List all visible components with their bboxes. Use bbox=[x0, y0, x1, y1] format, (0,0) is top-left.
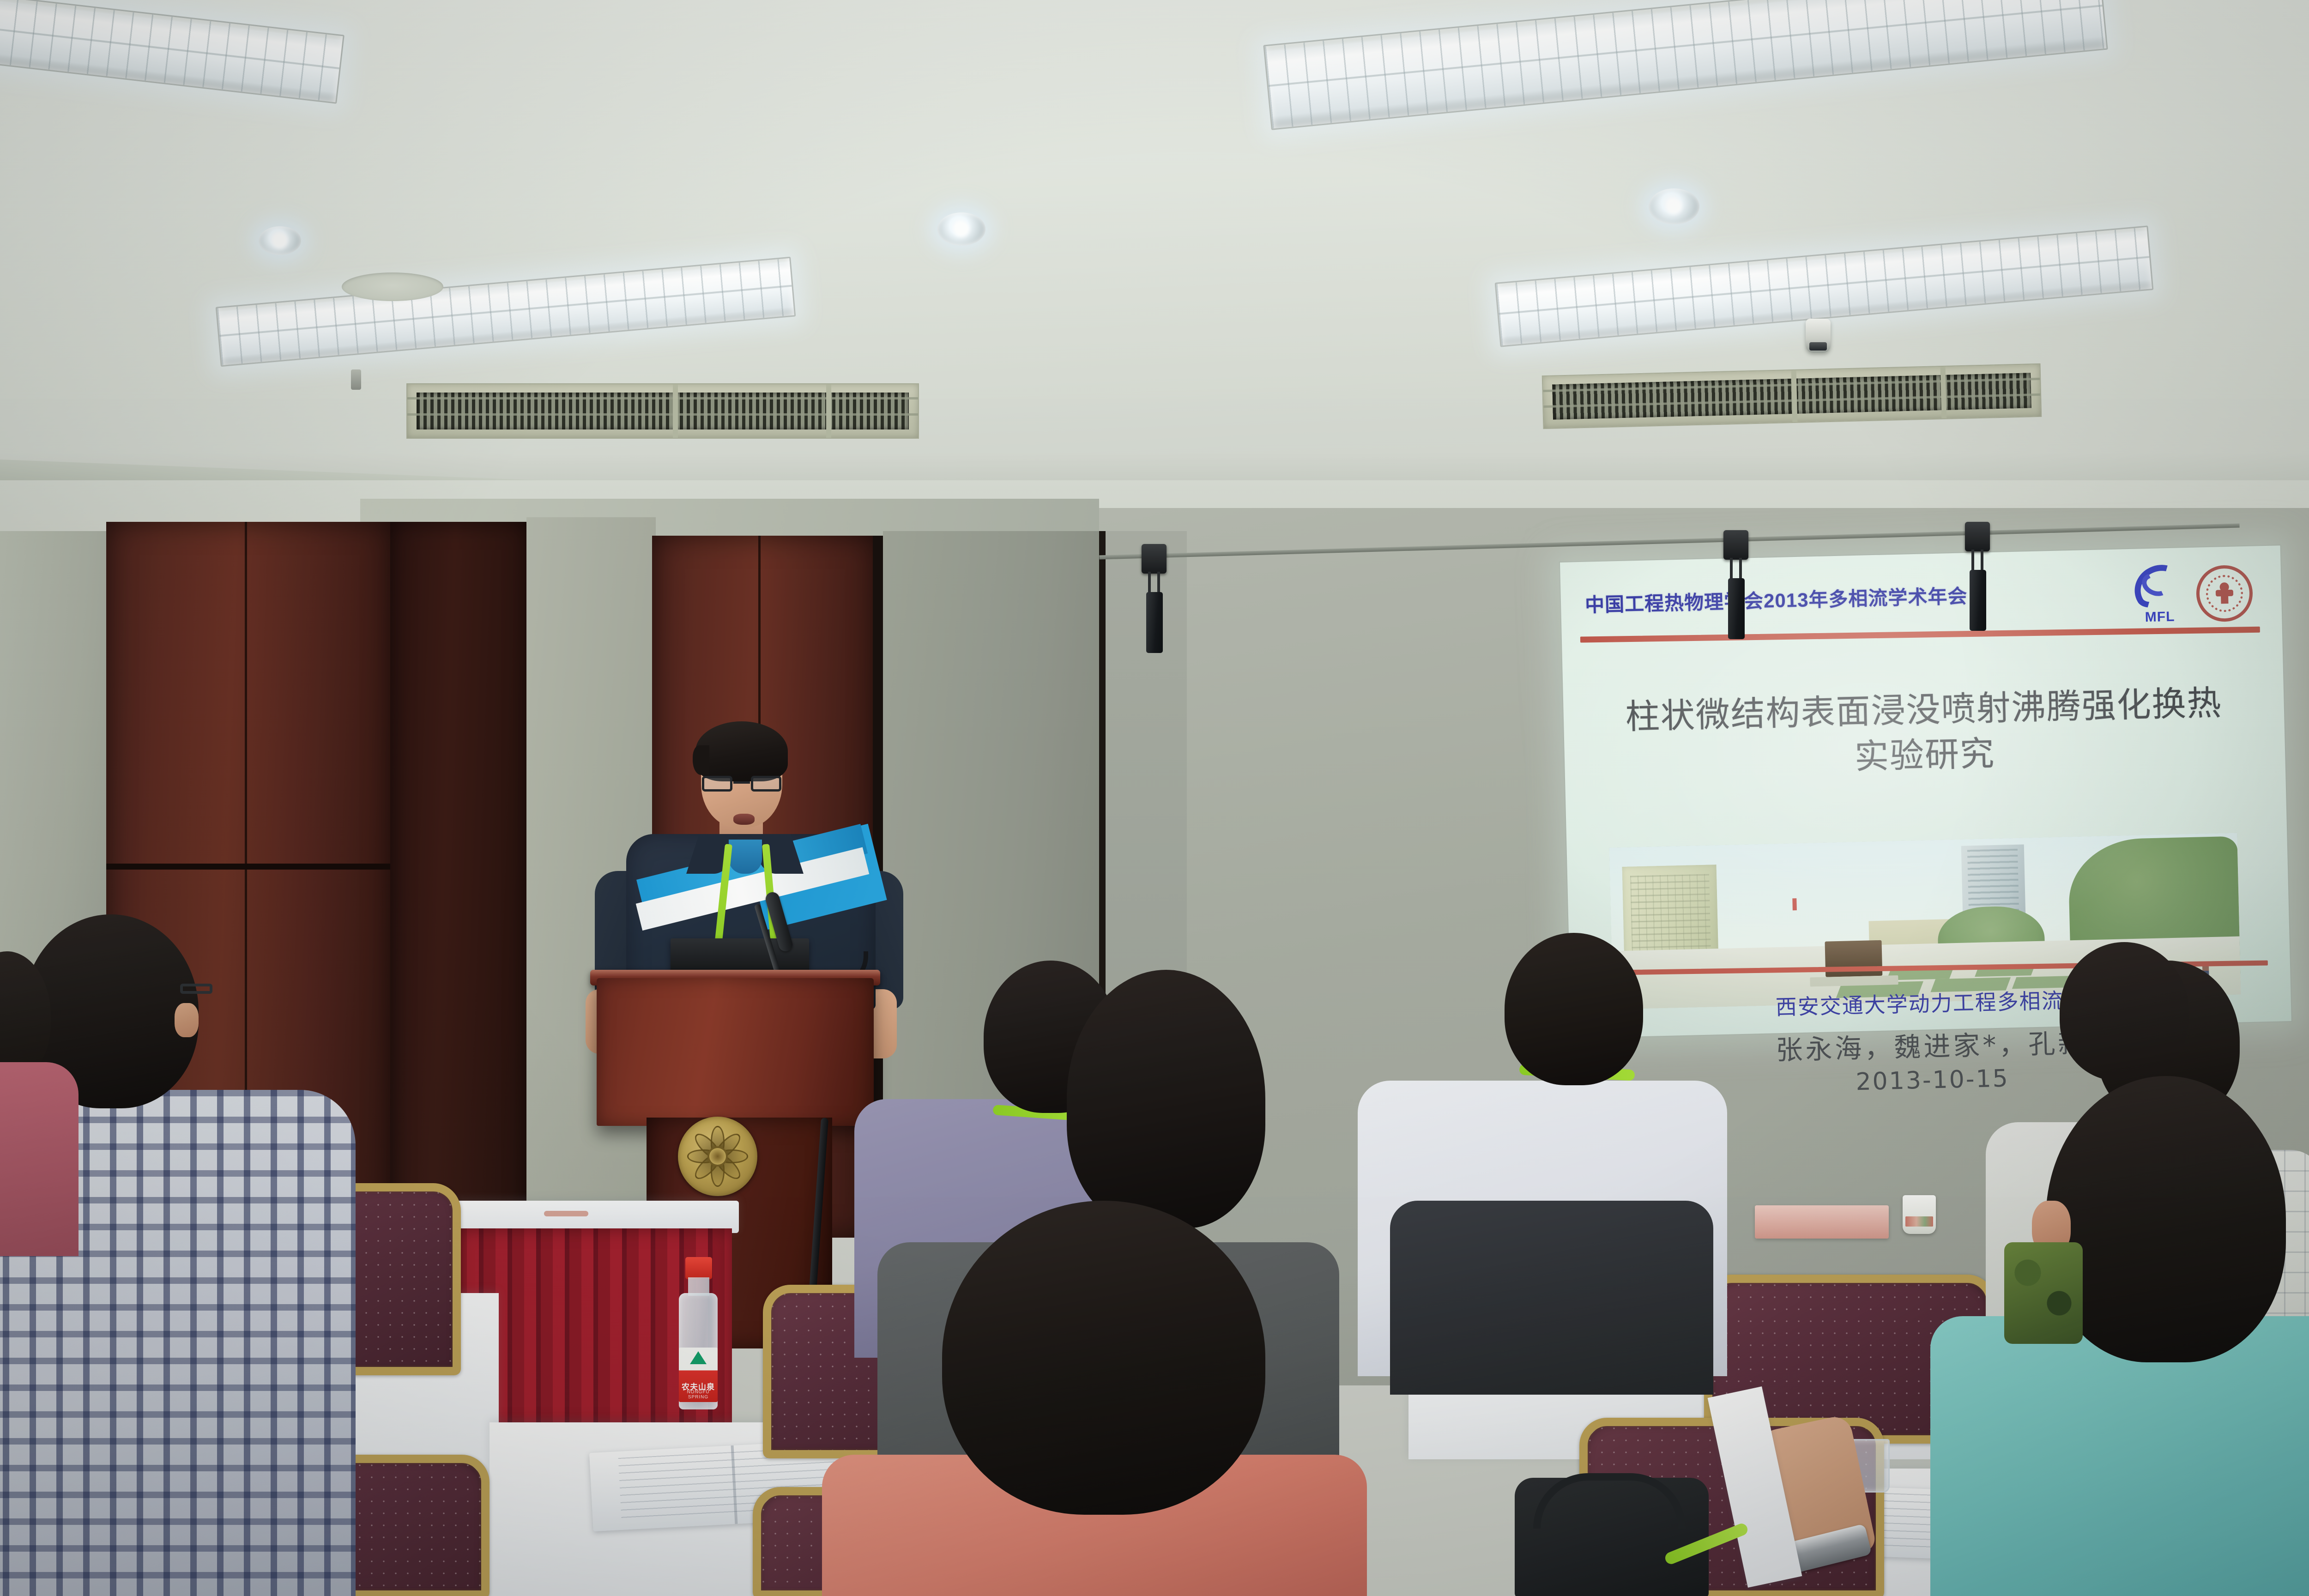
podium-rosette-icon bbox=[678, 1117, 757, 1196]
attendee-white-shirt-head bbox=[1505, 933, 1643, 1085]
ceiling-downlight-2 bbox=[937, 212, 985, 246]
ceiling-downlight-3 bbox=[1649, 188, 1699, 224]
conference-photo-scene: 中国工程热物理学会2013年多相流学术年会 MFL 柱状微结构表面浸没喷射沸腾强… bbox=[0, 0, 2309, 1596]
water-bottle[interactable]: 农夫山泉 NONGFU SPRING bbox=[678, 1257, 719, 1409]
attendee-coral-shirt-head bbox=[942, 1201, 1265, 1515]
mfl-swirl-logo-icon: MFL bbox=[2129, 565, 2190, 625]
paper-cup[interactable] bbox=[1903, 1195, 1936, 1234]
university-seal-logo-icon bbox=[2196, 565, 2254, 623]
attendee-teal-shirt-body bbox=[1930, 1316, 2309, 1596]
water-bottle-label: 农夫山泉 NONGFU SPRING bbox=[679, 1348, 718, 1402]
water-bottle-brand-en: NONGFU SPRING bbox=[679, 1390, 718, 1400]
presenter-collar-inner bbox=[729, 840, 762, 874]
attendee-gray-jacket-head bbox=[1067, 970, 1265, 1228]
name-card-red bbox=[1755, 1205, 1889, 1239]
presenter-mouth bbox=[733, 814, 755, 825]
ceiling-downlight-1 bbox=[259, 226, 301, 255]
ceiling-sprinkler-icon bbox=[351, 369, 361, 390]
hvac-vent-right-grille bbox=[1552, 373, 2031, 419]
attendee-plaid-shirt-glasses-icon bbox=[180, 984, 212, 994]
ceiling-motion-sensor-icon bbox=[1806, 319, 1831, 353]
attendee-light-jacket-head bbox=[2060, 942, 2189, 1081]
attendee-white-shirt-jacket-on-chair bbox=[1390, 1201, 1713, 1395]
camo-bag bbox=[2004, 1242, 2083, 1344]
mfl-logo-text: MFL bbox=[2130, 609, 2190, 626]
presenter-glasses-icon bbox=[702, 776, 781, 792]
wood-wall-panel-dark bbox=[390, 522, 529, 1242]
slide-title: 柱状微结构表面浸没喷射沸腾强化换热 实验研究 bbox=[1605, 680, 2244, 786]
hvac-vent-left bbox=[406, 383, 919, 439]
attendee-edge-left-body bbox=[0, 1062, 79, 1256]
ceiling-medallion bbox=[342, 272, 443, 301]
podium-front bbox=[597, 978, 874, 1126]
water-bottle-cap bbox=[685, 1257, 712, 1279]
hvac-vent-left-grille bbox=[417, 393, 909, 429]
presenter-hair bbox=[695, 721, 788, 781]
head-table-pen bbox=[544, 1211, 588, 1216]
attendee-plaid-shirt-ear bbox=[175, 1003, 199, 1037]
slide-logos: MFL bbox=[2129, 564, 2254, 625]
